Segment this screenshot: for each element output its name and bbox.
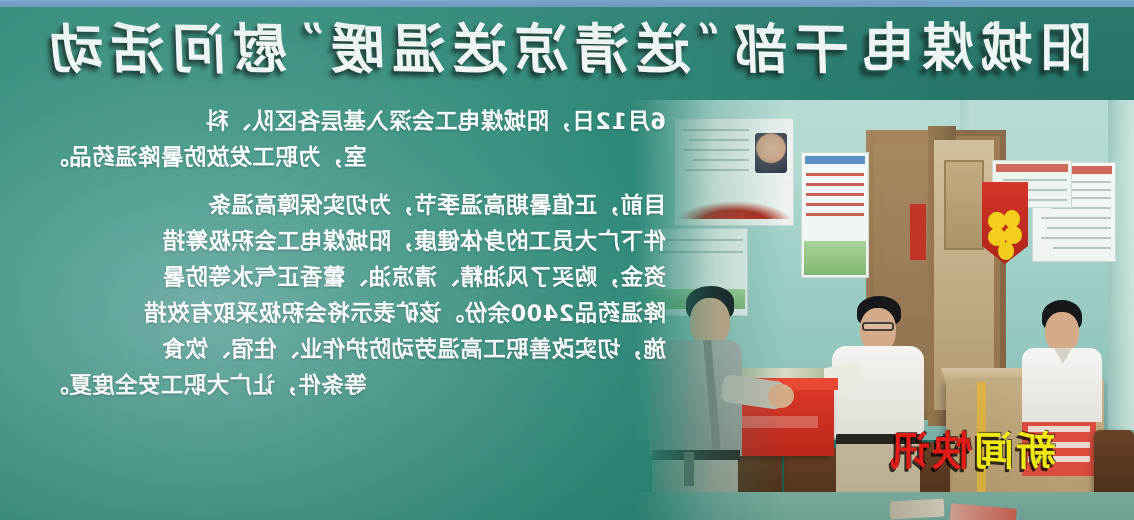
poster-text-line xyxy=(653,239,743,241)
red-wall-banner-2 xyxy=(910,204,926,260)
poster-green-graphic xyxy=(804,241,866,275)
text-line: 件下广大员工的身体健康，阳城煤电工会积极筹措 xyxy=(46,224,666,260)
poster-text-line xyxy=(685,169,749,171)
page-title: 阳 城 煤 电 干 部 “ 送 清 凉 送 温 暖 ” 慰 问 活 动 xyxy=(50,12,1080,86)
title-char: 清 xyxy=(574,19,630,80)
door-panel xyxy=(944,160,984,250)
paragraph-2: 目前，正值暑期高温季节，为切实保障高温条 件下广大员工的身体健康，阳城煤电工会积… xyxy=(46,188,666,404)
poster-text-line xyxy=(659,251,743,253)
title-char: 电 xyxy=(863,19,915,79)
poster-header-band xyxy=(805,156,865,164)
text-line: 目前，正值暑期高温季节，为切实保障高温条 xyxy=(46,188,666,224)
title-char: 问 xyxy=(171,19,227,80)
text-line: 室，为职工发放防暑降温药品。 xyxy=(46,140,666,176)
decorative-flower xyxy=(986,210,1022,262)
poster-red-text xyxy=(806,173,864,176)
poster-header-band xyxy=(996,164,1068,172)
table-magazine xyxy=(890,499,945,520)
title-quote-open: “ xyxy=(697,9,720,69)
glasses-icon xyxy=(862,322,894,331)
title-char: 送 xyxy=(635,19,691,80)
glass-table xyxy=(634,492,1134,520)
poster-text-line xyxy=(1041,217,1111,219)
poster-text-line xyxy=(689,139,749,141)
title-char: 煤 xyxy=(922,19,974,79)
text-line: 6月12日，阳城煤电工会深入基层各区队、科 xyxy=(46,104,666,140)
top-accent-strip xyxy=(0,0,1134,7)
poster-text-line xyxy=(683,149,749,151)
poster-canvas: 新闻快讯 阳 城 煤 电 干 部 “ 送 清 凉 送 温 暖 ” 慰 问 活 动 xyxy=(0,0,1134,520)
title-char: 阳 xyxy=(1040,19,1092,79)
title-char: 慰 xyxy=(232,19,288,80)
office-chair xyxy=(1094,430,1134,500)
poster-text-line xyxy=(683,129,749,131)
watermark-red-text: 快讯 xyxy=(888,429,972,475)
poster-red-text xyxy=(806,183,864,186)
portrait-photo xyxy=(755,133,787,173)
paragraph-1: 6月12日，阳城煤电工会深入基层各区队、科 室，为职工发放防暑降温药品。 xyxy=(46,104,666,176)
title-char: 干 xyxy=(794,19,850,80)
title-char: 暖 xyxy=(330,19,386,80)
title-char: 凉 xyxy=(513,19,569,80)
title-char: 部 xyxy=(733,19,789,80)
poster-text-line xyxy=(1041,237,1111,239)
article-body: 6月12日，阳城煤电工会深入基层各区队、科 室，为职工发放防暑降温药品。 目前，… xyxy=(46,104,666,414)
title-quote-close: ” xyxy=(301,9,324,69)
poster-red-graphic xyxy=(675,201,793,219)
mirrored-composition: 新闻快讯 阳 城 煤 电 干 部 “ 送 清 凉 送 温 暖 ” 慰 问 活 动 xyxy=(0,0,1134,520)
poster-text-line xyxy=(1053,247,1111,249)
watermark-yellow-text: 新闻 xyxy=(972,429,1056,475)
id-badge xyxy=(684,452,694,486)
poster-red-text xyxy=(806,213,864,216)
photo-scene xyxy=(634,100,1134,520)
text-line: 等条件，让广大职工安全度夏。 xyxy=(46,368,666,404)
text-line: 施，切实改善职工高温劳动防护作业、住宿、饮食 xyxy=(46,332,666,368)
text-line: 资金，购买了风油精、清凉油、藿香正气水等防暑 xyxy=(46,260,666,296)
poster-text-line xyxy=(1003,179,1067,181)
gift-box-label xyxy=(738,416,818,428)
poster-text-line xyxy=(1047,227,1111,229)
text-line: 降温药品2400余份。该矿表示将会积极采取有效措 xyxy=(46,296,666,332)
title-char: 活 xyxy=(110,19,166,80)
head xyxy=(1045,312,1079,352)
poster-red-text xyxy=(806,203,864,206)
title-char: 送 xyxy=(452,19,508,80)
hand xyxy=(768,384,794,408)
head xyxy=(690,298,730,346)
news-photo xyxy=(634,100,1134,520)
wall-poster-portrait xyxy=(674,118,794,226)
title-char: 城 xyxy=(981,19,1033,79)
wall-pillar-left xyxy=(1108,100,1134,430)
news-watermark: 新闻快讯 xyxy=(888,430,1056,474)
poster-red-text xyxy=(806,193,864,196)
title-char: 动 xyxy=(49,19,105,80)
wall-poster-3 xyxy=(801,152,869,278)
title-char: 温 xyxy=(391,19,447,80)
poster-text-line xyxy=(693,159,749,161)
